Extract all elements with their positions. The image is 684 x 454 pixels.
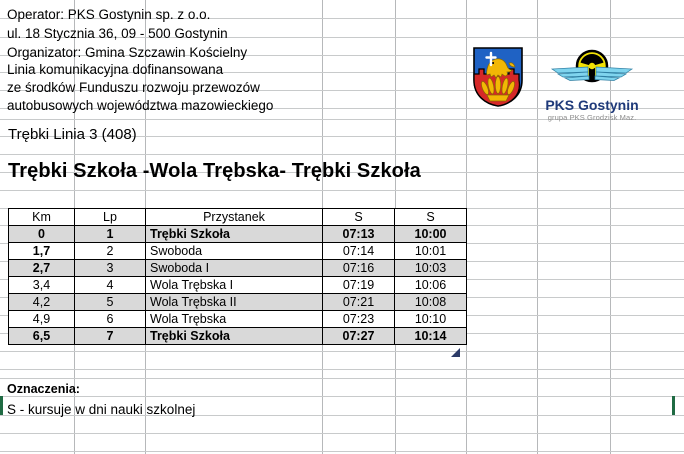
- cell-stop: Swoboda I: [146, 260, 323, 277]
- table-corner-marker: [451, 348, 460, 357]
- cell-time-2: 10:14: [395, 328, 467, 345]
- cell-time-1: 07:23: [323, 311, 395, 328]
- cell-lp: 2: [75, 243, 146, 260]
- table-header-row: KmLpPrzystanekSS: [9, 209, 467, 226]
- cell-time-1: 07:16: [323, 260, 395, 277]
- header-line-operator: Operator: PKS Gostynin sp. z o.o.: [7, 8, 210, 22]
- cell-stop: Swoboda: [146, 243, 323, 260]
- pks-logo-name: PKS Gostynin: [536, 98, 648, 113]
- cell-time-2: 10:01: [395, 243, 467, 260]
- cell-km: 0: [9, 226, 75, 243]
- cell-km: 4,9: [9, 311, 75, 328]
- cell-time-1: 07:13: [323, 226, 395, 243]
- cell-time-1: 07:14: [323, 243, 395, 260]
- cell-km: 6,5: [9, 328, 75, 345]
- cell-km: 3,4: [9, 277, 75, 294]
- column-header-s-3: S: [323, 209, 395, 226]
- column-header-przystanek-2: Przystanek: [146, 209, 323, 226]
- line-label: Trębki Linia 3 (408): [8, 126, 137, 143]
- table-row: 2,73Swoboda I07:1610:03: [9, 260, 467, 277]
- cell-km: 2,7: [9, 260, 75, 277]
- selection-edge-right[interactable]: [672, 396, 675, 415]
- cell-stop: Wola Trębska: [146, 311, 323, 328]
- cell-time-2: 10:06: [395, 277, 467, 294]
- cell-lp: 1: [75, 226, 146, 243]
- pks-logo-subtitle: grupa PKS Grodzisk Maz.: [536, 113, 648, 122]
- timetable: KmLpPrzystanekSS01Trębki Szkoła07:1310:0…: [8, 208, 467, 345]
- cell-stop: Trębki Szkoła: [146, 328, 323, 345]
- cell-km: 1,7: [9, 243, 75, 260]
- cell-lp: 5: [75, 294, 146, 311]
- column-header-km-0: Km: [9, 209, 75, 226]
- cell-km: 4,2: [9, 294, 75, 311]
- header-line-address: ul. 18 Stycznia 36, 09 - 500 Gostynin: [7, 27, 228, 41]
- legend-heading: Oznaczenia:: [7, 382, 80, 396]
- worksheet-content: Operator: PKS Gostynin sp. z o.o. ul. 18…: [0, 0, 684, 454]
- cell-time-1: 07:21: [323, 294, 395, 311]
- cell-stop: Wola Trębska II: [146, 294, 323, 311]
- cell-lp: 7: [75, 328, 146, 345]
- cell-lp: 4: [75, 277, 146, 294]
- table-row: 3,44Wola Trębska I07:1910:06: [9, 277, 467, 294]
- table-row: 6,57Trębki Szkoła07:2710:14: [9, 328, 467, 345]
- cell-lp: 6: [75, 311, 146, 328]
- cell-stop: Trębki Szkoła: [146, 226, 323, 243]
- column-header-lp-1: Lp: [75, 209, 146, 226]
- pks-emblem-icon: [536, 48, 648, 92]
- header-line-funding-1: Linia komunikacyjna dofinansowana: [7, 63, 223, 77]
- cell-lp: 3: [75, 260, 146, 277]
- table-row: 4,96Wola Trębska07:2310:10: [9, 311, 467, 328]
- header-line-organizer: Organizator: Gmina Szczawin Kościelny: [7, 46, 247, 60]
- cell-time-1: 07:19: [323, 277, 395, 294]
- pks-gostynin-logo: PKS Gostynin grupa PKS Grodzisk Maz.: [536, 48, 648, 122]
- cell-stop: Wola Trębska I: [146, 277, 323, 294]
- header-line-funding-2: ze środków Funduszu rozwoju przewozów: [7, 81, 260, 95]
- column-header-s-4: S: [395, 209, 467, 226]
- header-line-funding-3: autobusowych województwa mazowieckiego: [7, 99, 273, 113]
- page-title: Trębki Szkoła -Wola Trębska- Trębki Szko…: [8, 160, 421, 183]
- table-row: 4,25Wola Trębska II07:2110:08: [9, 294, 467, 311]
- selection-edge-left[interactable]: [0, 396, 3, 415]
- table-row: 1,72Swoboda07:1410:01: [9, 243, 467, 260]
- cell-time-2: 10:08: [395, 294, 467, 311]
- legend-text: S - kursuje w dni nauki szkolnej: [7, 402, 195, 417]
- cell-time-2: 10:00: [395, 226, 467, 243]
- cell-time-2: 10:10: [395, 311, 467, 328]
- table-row: 01Trębki Szkoła07:1310:00: [9, 226, 467, 243]
- cell-time-2: 10:03: [395, 260, 467, 277]
- cell-time-1: 07:27: [323, 328, 395, 345]
- gmina-coat-of-arms-icon: [472, 46, 524, 113]
